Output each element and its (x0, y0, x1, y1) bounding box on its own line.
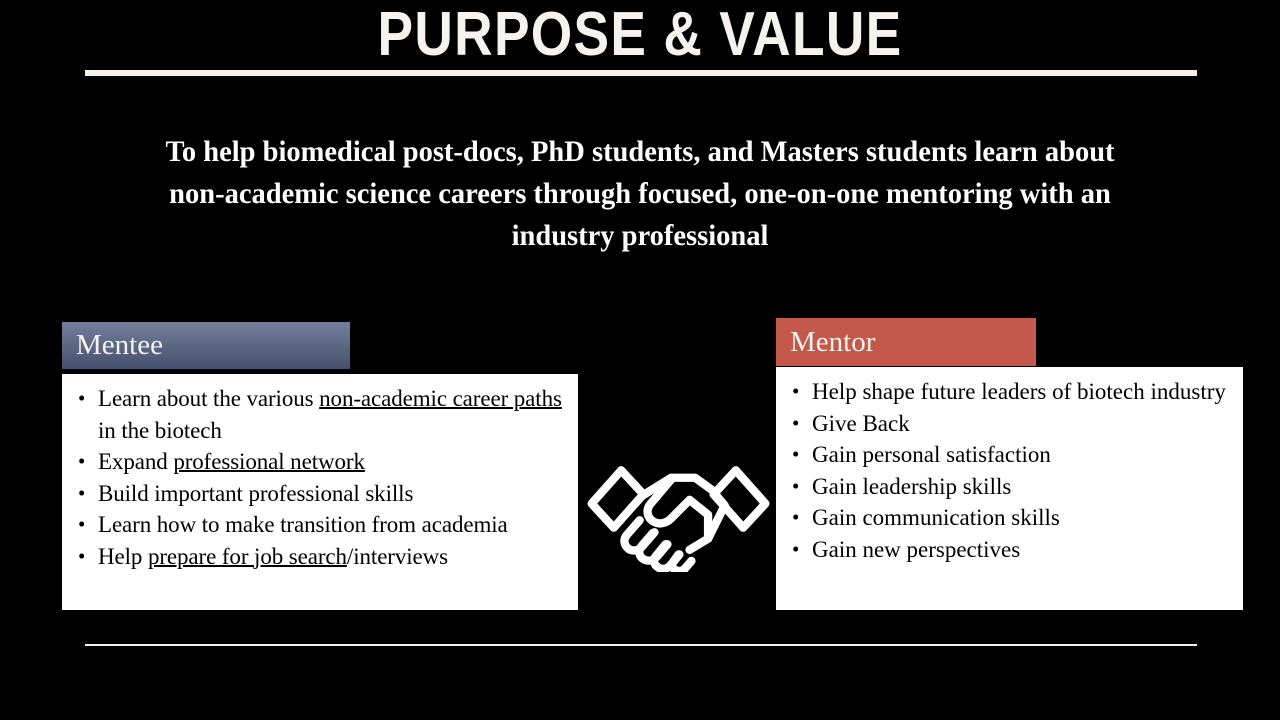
mentor-card-title: Mentor (790, 328, 875, 357)
list-item: •Learn about the various non-academic ca… (72, 383, 568, 446)
handshake-icon (586, 450, 771, 572)
list-item: •Build important professional skills (72, 478, 568, 510)
bullet-dot-icon: • (786, 502, 812, 534)
bottom-divider (85, 644, 1197, 646)
list-item-label: Help prepare for job search/interviews (98, 541, 568, 573)
list-item: •Help prepare for job search/interviews (72, 541, 568, 573)
list-item-label: Help shape future leaders of biotech ind… (812, 376, 1233, 408)
mentee-card-title: Mentee (76, 331, 163, 360)
list-item: •Help shape future leaders of biotech in… (786, 376, 1233, 408)
list-item-label: Build important professional skills (98, 478, 568, 510)
bullet-dot-icon: • (786, 439, 812, 471)
mentee-card-body: •Learn about the various non-academic ca… (62, 374, 578, 610)
list-item: •Gain communication skills (786, 502, 1233, 534)
slide-subtitle: To help biomedical post-docs, PhD studen… (137, 131, 1144, 257)
list-item-label: Give Back (812, 408, 1233, 440)
bullet-dot-icon: • (786, 376, 812, 408)
title-divider (85, 70, 1197, 76)
list-item: •Expand professional network (72, 446, 568, 478)
list-item-label: Gain personal satisfaction (812, 439, 1233, 471)
mentee-card-header: Mentee (62, 322, 350, 369)
page-title: PURPOSE & VALUE (90, 0, 1191, 70)
list-item: •Give Back (786, 408, 1233, 440)
list-item-label: Gain new perspectives (812, 534, 1233, 566)
list-item: •Gain personal satisfaction (786, 439, 1233, 471)
list-item-label: Gain communication skills (812, 502, 1233, 534)
bullet-dot-icon: • (72, 541, 98, 573)
bullet-dot-icon: • (786, 471, 812, 503)
bullet-dot-icon: • (786, 534, 812, 566)
list-item: •Learn how to make transition from acade… (72, 509, 568, 541)
bullet-dot-icon: • (72, 509, 98, 541)
list-item-label: Gain leadership skills (812, 471, 1233, 503)
list-item-label: Learn how to make transition from academ… (98, 509, 568, 541)
list-item: •Gain new perspectives (786, 534, 1233, 566)
bullet-dot-icon: • (786, 408, 812, 440)
list-item-label: Learn about the various non-academic car… (98, 383, 568, 446)
bullet-dot-icon: • (72, 478, 98, 510)
mentor-card-header: Mentor (776, 318, 1036, 366)
list-item: •Gain leadership skills (786, 471, 1233, 503)
bullet-dot-icon: • (72, 446, 98, 478)
list-item-label: Expand professional network (98, 446, 568, 478)
bullet-dot-icon: • (72, 383, 98, 415)
mentor-card-body: •Help shape future leaders of biotech in… (776, 367, 1243, 610)
